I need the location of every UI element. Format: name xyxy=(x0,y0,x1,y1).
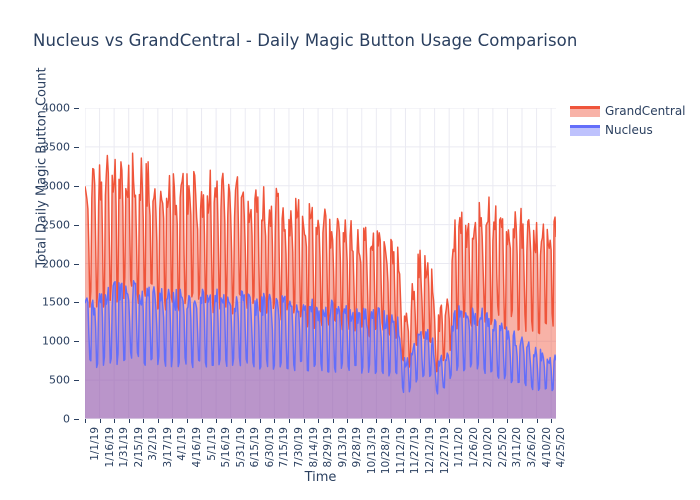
legend-entry-grandcentral[interactable]: GrandCentral xyxy=(570,102,694,119)
legend-label: Nucleus xyxy=(605,123,653,137)
x-axis-tick-mark xyxy=(391,419,392,423)
x-axis-tick-mark xyxy=(333,419,334,423)
x-axis-tick-label: 11/12/19 xyxy=(395,427,407,474)
x-axis-tick-mark xyxy=(187,419,188,423)
x-axis-tick-mark xyxy=(362,419,363,423)
x-axis-tick-label: 1/26/20 xyxy=(468,427,480,467)
x-axis-tick-label: 8/14/19 xyxy=(308,427,320,467)
x-axis-tick-label: 1/16/19 xyxy=(104,427,116,467)
chart-container: Nucleus vs GrandCentral - Daily Magic Bu… xyxy=(0,0,700,500)
x-axis-tick-mark xyxy=(464,419,465,423)
y-axis-tick-label: 1500 xyxy=(42,296,70,309)
x-axis-tick-label: 5/16/19 xyxy=(220,427,232,467)
chart-legend[interactable]: GrandCentralNucleus xyxy=(570,102,694,140)
x-axis-title: Time xyxy=(85,470,556,485)
x-axis-tick-mark xyxy=(449,419,450,423)
x-axis-tick-label: 9/13/19 xyxy=(337,427,349,467)
x-axis-tick-label: 12/27/19 xyxy=(439,427,451,474)
y-axis-tick-mark xyxy=(74,186,79,187)
x-axis-tick-label: 2/10/20 xyxy=(482,427,494,467)
y-axis-tick-mark xyxy=(74,341,79,342)
x-axis-tick-mark xyxy=(245,419,246,423)
x-axis-tick-label: 3/2/19 xyxy=(147,427,159,461)
x-axis-tick-mark xyxy=(158,419,159,423)
y-axis-tick-label: 1000 xyxy=(42,335,70,348)
y-axis-tick-mark xyxy=(74,380,79,381)
x-axis-tick-mark xyxy=(507,419,508,423)
y-axis-tick-mark xyxy=(74,302,79,303)
x-axis-tick-label: 5/1/19 xyxy=(206,427,218,461)
x-axis-tick-label: 6/30/19 xyxy=(264,427,276,467)
y-axis-tick-mark xyxy=(74,419,79,420)
x-axis-tick-mark xyxy=(522,419,523,423)
x-axis-tick-mark xyxy=(537,419,538,423)
legend-label: GrandCentral xyxy=(605,104,686,118)
x-axis-tick-mark xyxy=(551,419,552,423)
x-axis-tick-label: 3/11/20 xyxy=(511,427,523,467)
x-axis-tick-mark xyxy=(478,419,479,423)
x-axis-tick-label: 1/31/19 xyxy=(118,427,130,467)
x-axis-tick-mark xyxy=(493,419,494,423)
x-axis-tick-mark xyxy=(260,419,261,423)
x-axis-tick-mark xyxy=(289,419,290,423)
x-axis-tick-label: 4/10/20 xyxy=(541,427,553,467)
x-axis-tick-label: 10/28/19 xyxy=(380,427,392,474)
x-axis-tick-label: 8/29/19 xyxy=(322,427,334,467)
x-axis-tick-label: 4/16/19 xyxy=(191,427,203,467)
x-axis-tick-mark xyxy=(172,419,173,423)
x-axis-tick-label: 12/12/19 xyxy=(424,427,436,474)
y-axis-tick-mark xyxy=(74,225,79,226)
legend-swatch-line xyxy=(570,125,600,128)
x-axis-tick-mark xyxy=(304,419,305,423)
x-axis-tick-mark xyxy=(405,419,406,423)
x-axis-tick-label: 7/15/19 xyxy=(278,427,290,467)
x-axis-tick-mark xyxy=(231,419,232,423)
x-axis-tick-mark xyxy=(216,419,217,423)
x-axis-tick-label: 7/30/19 xyxy=(293,427,305,467)
x-axis-tick-label: 6/15/19 xyxy=(249,427,261,467)
x-axis-tick-label: 4/1/19 xyxy=(176,427,188,461)
x-axis-tick-mark xyxy=(376,419,377,423)
y-axis-tick-label: 0 xyxy=(63,413,70,426)
y-axis-tick-mark xyxy=(74,147,79,148)
x-axis-tick-mark xyxy=(100,419,101,423)
plot-area[interactable] xyxy=(85,108,556,419)
plot-svg xyxy=(85,108,556,419)
x-axis-tick-mark xyxy=(347,419,348,423)
x-axis-tick-label: 11/27/19 xyxy=(409,427,421,474)
legend-entry-nucleus[interactable]: Nucleus xyxy=(570,121,694,138)
x-axis-tick-mark xyxy=(129,419,130,423)
x-axis-tick-label: 9/28/19 xyxy=(351,427,363,467)
x-axis-tick-mark xyxy=(202,419,203,423)
y-axis-tick-mark xyxy=(74,108,79,109)
x-axis-tick-label: 1/11/20 xyxy=(453,427,465,467)
x-axis-tick-mark xyxy=(114,419,115,423)
x-axis-tick-label: 1/1/19 xyxy=(89,427,101,461)
x-axis-tick-label: 10/13/19 xyxy=(366,427,378,474)
x-axis-tick-mark xyxy=(274,419,275,423)
y-axis-title: Total Daily Magic Button Count xyxy=(35,38,50,298)
x-axis-tick-mark xyxy=(435,419,436,423)
y-axis-tick-label: 500 xyxy=(49,374,70,387)
x-axis-tick-label: 4/25/20 xyxy=(555,427,567,467)
y-axis-tick-mark xyxy=(74,264,79,265)
legend-swatch-icon xyxy=(570,123,600,136)
x-axis-tick-mark xyxy=(420,419,421,423)
x-axis-tick-label: 5/31/19 xyxy=(235,427,247,467)
x-axis-tick-label: 2/15/19 xyxy=(133,427,145,467)
x-axis-tick-label: 3/17/19 xyxy=(162,427,174,467)
x-axis-tick-mark xyxy=(143,419,144,423)
legend-swatch-line xyxy=(570,106,600,109)
chart-title: Nucleus vs GrandCentral - Daily Magic Bu… xyxy=(33,31,577,50)
x-axis-tick-mark xyxy=(85,419,86,423)
legend-swatch-icon xyxy=(570,104,600,117)
x-axis-tick-label: 2/25/20 xyxy=(497,427,509,467)
x-axis-tick-mark xyxy=(318,419,319,423)
x-axis-tick-label: 3/26/20 xyxy=(526,427,538,467)
